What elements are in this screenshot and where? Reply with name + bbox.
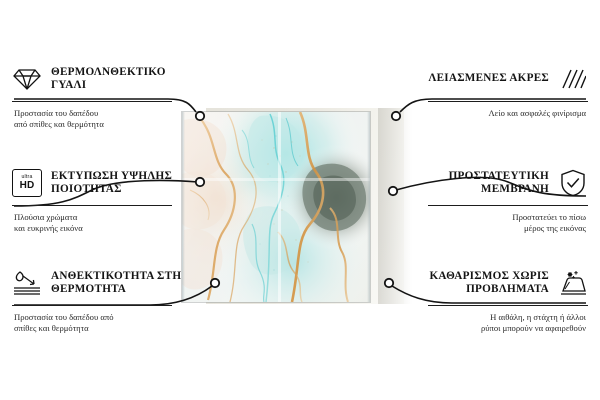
- infographic-canvas: ΘΕΡΜΟΛΝΘΕΚΤΙΚΟ ΓΥΑΛΙ Προστασία του δαπέδ…: [0, 0, 600, 400]
- feature-desc-line-1: Προστασία του δαπέδου: [14, 108, 192, 119]
- feature-desc-line-2: σπίθες και θερμότητα: [14, 323, 192, 334]
- feature-header: ΠΡΟΣΤΑΤΕΥΤΙΚΗ ΜΕΜΒΡΑΝΗ: [408, 166, 588, 200]
- feature-heat-resistant-glass: ΘΕΡΜΟΛΝΘΕΚΤΙΚΟ ΓΥΑΛΙ Προστασία του δαπέδ…: [12, 62, 192, 129]
- feature-header: ΘΕΡΜΟΛΝΘΕΚΤΙΚΟ ΓΥΑΛΙ: [12, 62, 192, 96]
- hd-badge-big-label: HD: [20, 181, 35, 191]
- feature-desc-line-1: Προστατεύει το πίσω: [408, 212, 586, 223]
- feature-description: Προστασία του δαπέδου από σπίθες και θερ…: [12, 312, 192, 333]
- polished-edges-icon: [558, 64, 588, 94]
- feature-heat-resistance: ΑΝΘΕΚΤΙΚΟΤΗΤΑ ΣΤΗ ΘΕΡΜΟΤΗΤΑ Προστασία το…: [12, 266, 192, 333]
- feature-divider: [12, 205, 172, 206]
- feature-divider: [12, 305, 172, 306]
- feature-description: Προστατεύει το πίσω μέρος της εικόνας: [408, 212, 588, 233]
- feature-easy-cleaning: ΚΑΘΑΡΙΣΜΟΣ ΧΩΡΙΣ ΠΡΟΒΛΗΜΑΤΑ Η αιθάλη, η …: [408, 266, 588, 333]
- product-back-panel-shadow: [378, 108, 412, 304]
- feature-header: ΑΝΘΕΚΤΙΚΟΤΗΤΑ ΣΤΗ ΘΕΡΜΟΤΗΤΑ: [12, 266, 192, 300]
- feature-desc-line-2: μέρος της εικόνας: [408, 223, 586, 234]
- feature-title: ΕΚΤΥΠΩΣΗ ΥΨΗΛΗΣ ΠΟΙΟΤΗΤΑΣ: [51, 170, 192, 197]
- feature-protective-membrane: ΠΡΟΣΤΑΤΕΥΤΙΚΗ ΜΕΜΒΡΑΝΗ Προστατεύει το πί…: [408, 166, 588, 233]
- feature-title: ΚΑΘΑΡΙΣΜΟΣ ΧΩΡΙΣ ΠΡΟΒΛΗΜΑΤΑ: [408, 270, 549, 297]
- feature-desc-line-1: Λείο και ασφαλές φινίρισμα: [408, 108, 586, 119]
- feature-title: ΘΕΡΜΟΛΝΘΕΚΤΙΚΟ ΓΥΑΛΙ: [51, 66, 192, 93]
- feature-title: ΛΕΙΑΣΜΕΝΕΣ ΑΚΡΕΣ: [408, 72, 549, 85]
- ultra-hd-badge-icon: ultra HD: [12, 168, 42, 198]
- feature-divider: [428, 205, 588, 206]
- flame-deflect-icon: [12, 268, 42, 298]
- feature-desc-line-1: Πλούσια χρώματα: [14, 212, 192, 223]
- feature-header: ΛΕΙΑΣΜΕΝΕΣ ΑΚΡΕΣ: [408, 62, 588, 96]
- feature-description: Πλούσια χρώματα και ευκρινής εικόνα: [12, 212, 192, 233]
- hd-badge: ultra HD: [12, 169, 42, 197]
- feature-description: Λείο και ασφαλές φινίρισμα: [408, 108, 588, 119]
- feature-divider: [428, 101, 588, 102]
- diamond-icon: [12, 64, 42, 94]
- marble-artwork: [182, 112, 370, 302]
- feature-title: ΠΡΟΣΤΑΤΕΥΤΙΚΗ ΜΕΜΒΡΑΝΗ: [408, 170, 549, 197]
- feature-divider: [428, 305, 588, 306]
- feature-desc-line-1: Προστασία του δαπέδου από: [14, 312, 192, 323]
- feature-desc-line-2: από σπίθες και θερμότητα: [14, 119, 192, 130]
- feature-description: Προστασία του δαπέδου από σπίθες και θερ…: [12, 108, 192, 129]
- feature-divider: [12, 101, 172, 102]
- sponge-sparkle-icon: [558, 268, 588, 298]
- feature-header: ΚΑΘΑΡΙΣΜΟΣ ΧΩΡΙΣ ΠΡΟΒΛΗΜΑΤΑ: [408, 266, 588, 300]
- feature-high-quality-print: ultra HD ΕΚΤΥΠΩΣΗ ΥΨΗΛΗΣ ΠΟΙΟΤΗΤΑΣ Πλούσ…: [12, 166, 192, 233]
- feature-description: Η αιθάλη, η στάχτη ή άλλοι ρύποι μπορούν…: [408, 312, 588, 333]
- feature-desc-line-2: ρύποι μπορούν να αφαιρεθούν: [408, 323, 586, 334]
- feature-polished-edges: ΛΕΙΑΣΜΕΝΕΣ ΑΚΡΕΣ Λείο και ασφαλές φινίρι…: [408, 62, 588, 119]
- product-image-area: [182, 112, 412, 304]
- feature-title: ΑΝΘΕΚΤΙΚΟΤΗΤΑ ΣΤΗ ΘΕΡΜΟΤΗΤΑ: [51, 270, 192, 297]
- feature-desc-line-1: Η αιθάλη, η στάχτη ή άλλοι: [408, 312, 586, 323]
- feature-desc-line-2: και ευκρινής εικόνα: [14, 223, 192, 234]
- product-glass-panel: [182, 112, 370, 302]
- feature-header: ultra HD ΕΚΤΥΠΩΣΗ ΥΨΗΛΗΣ ΠΟΙΟΤΗΤΑΣ: [12, 166, 192, 200]
- shield-check-icon: [558, 168, 588, 198]
